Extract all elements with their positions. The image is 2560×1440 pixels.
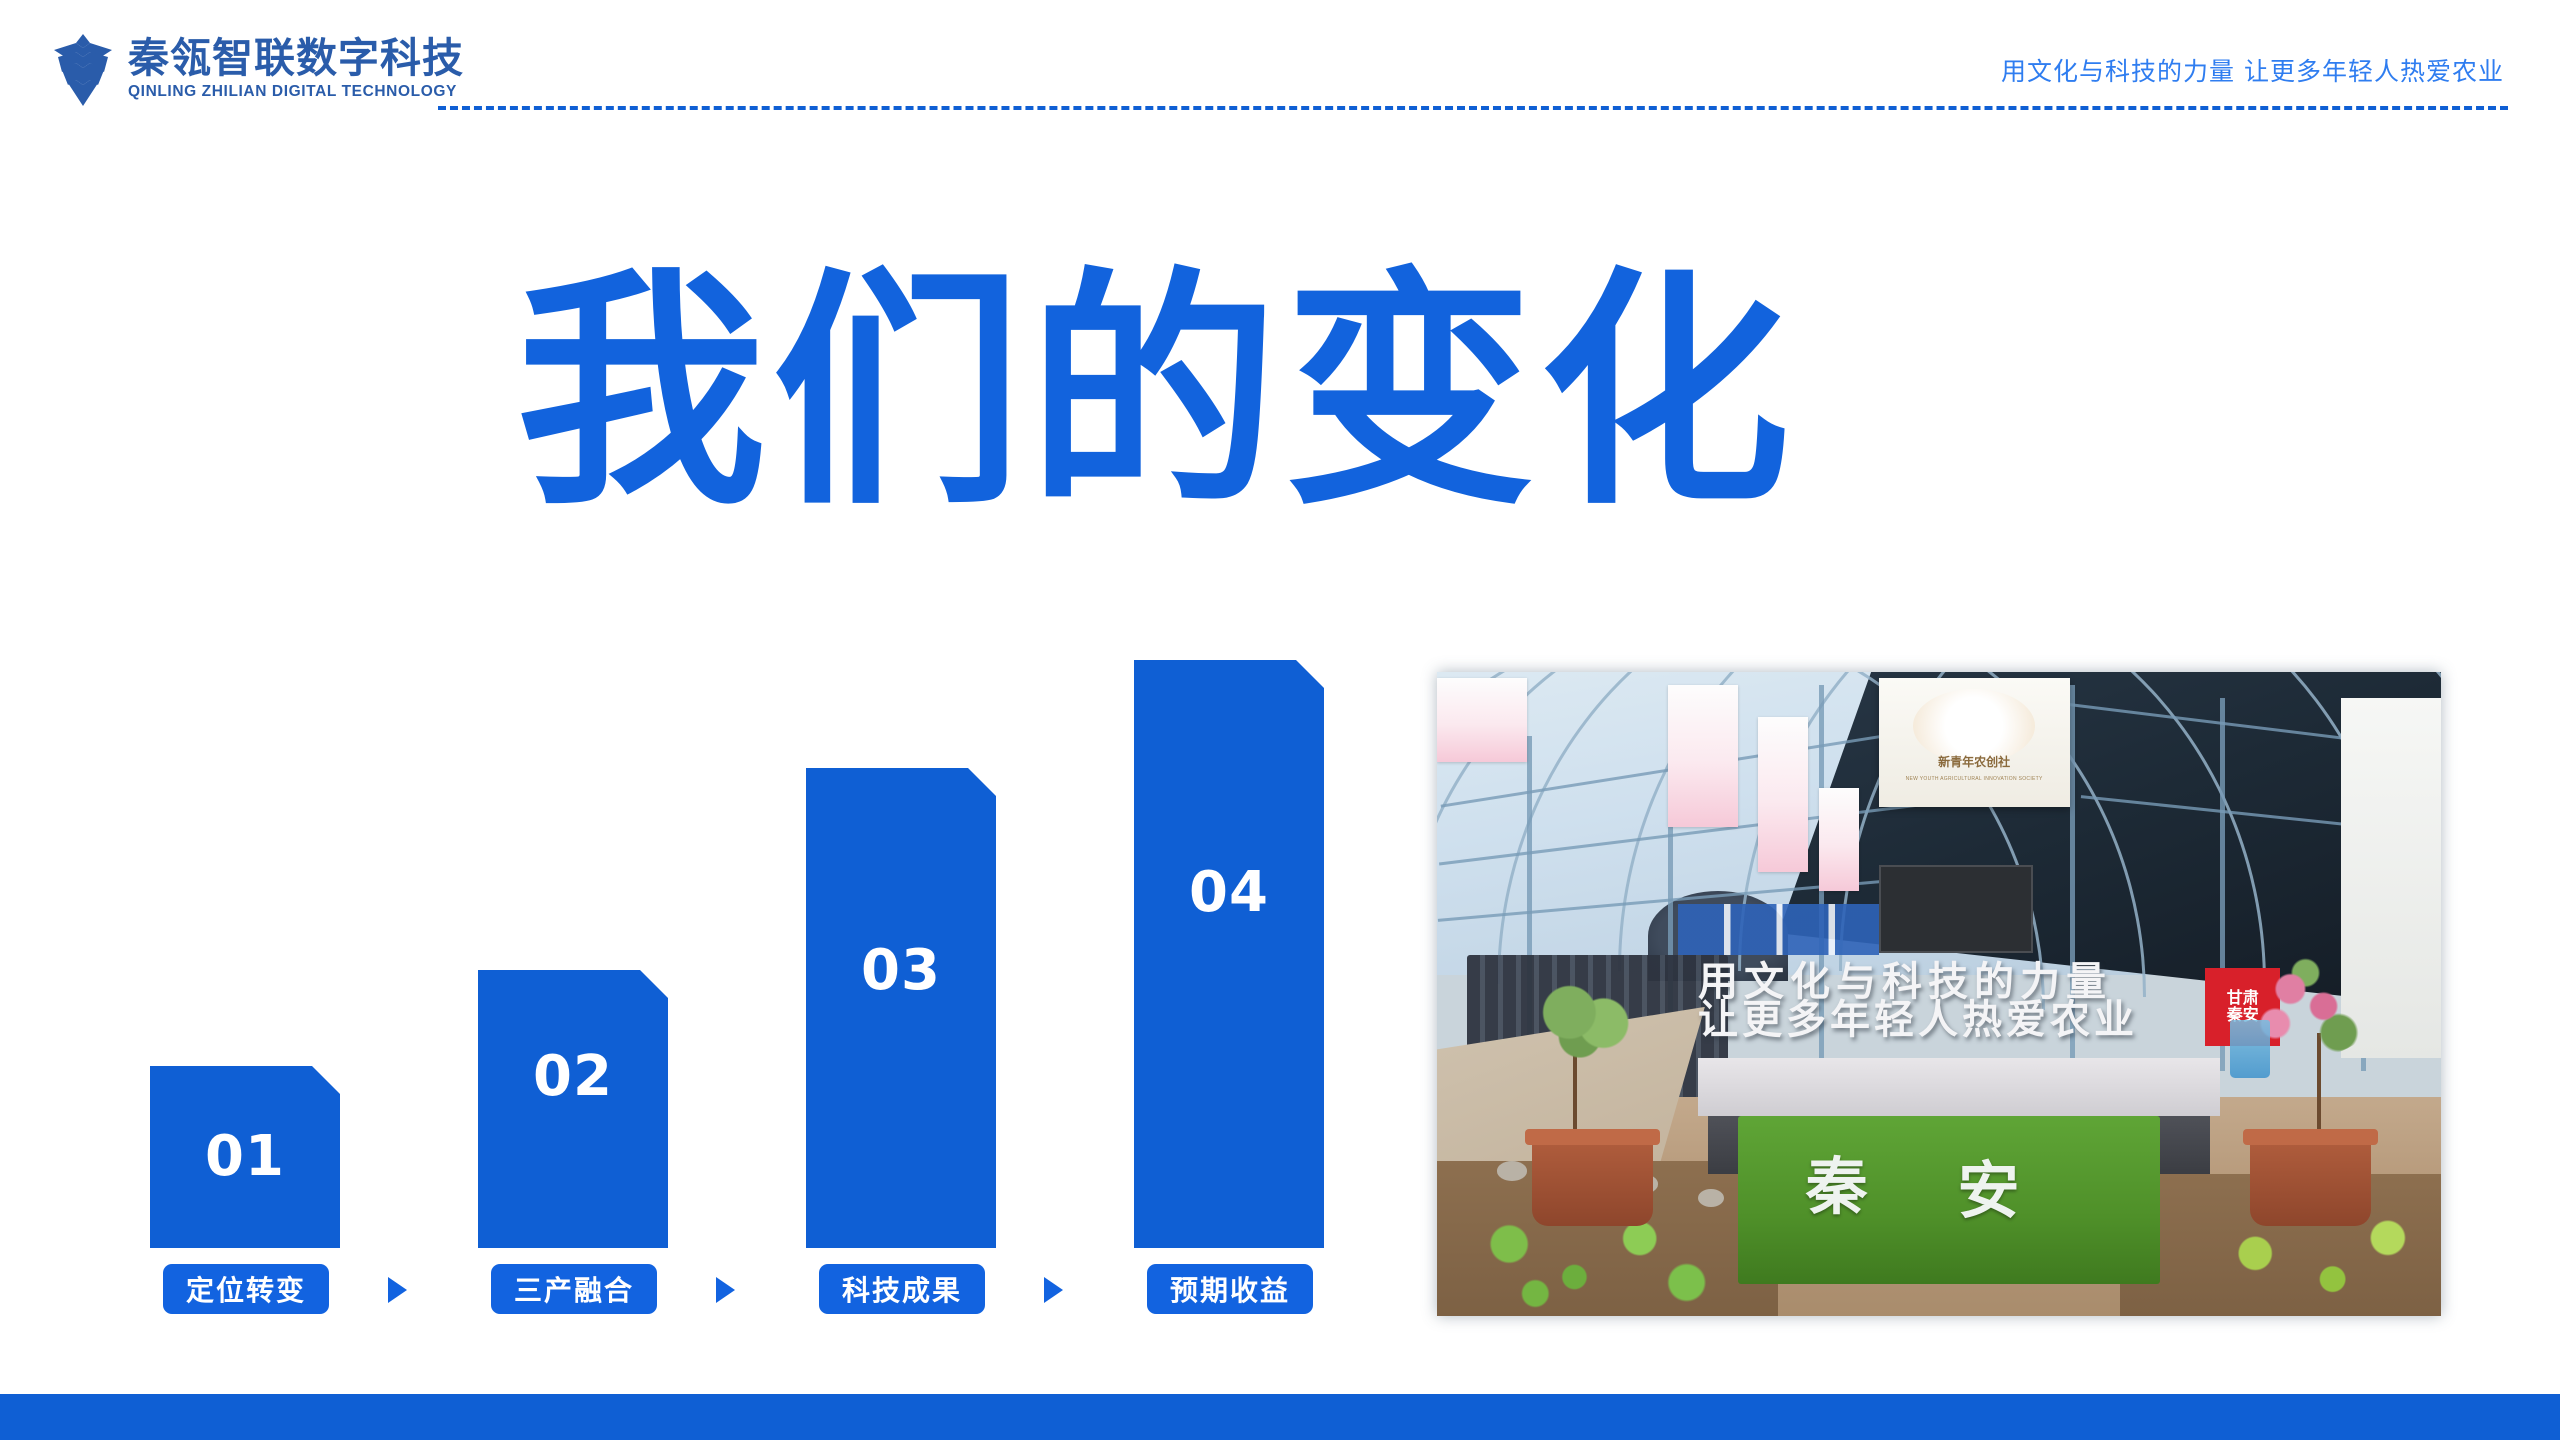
chart-arrow-3-play-triangle-right-icon xyxy=(1044,1277,1063,1303)
header-tagline: 用文化与科技的力量 让更多年轻人热爱农业 xyxy=(2001,52,2504,88)
chart-bar-1[interactable]: 01 xyxy=(150,1066,340,1248)
photo-grass-char-1: 秦 xyxy=(1806,1136,1868,1226)
chart-label-2[interactable]: 三产融合 xyxy=(491,1264,657,1314)
chart-bar-2[interactable]: 02 xyxy=(478,970,668,1248)
chart-arrow-2-play-triangle-right-icon xyxy=(716,1277,735,1303)
photo-banner-2 xyxy=(1668,685,1738,827)
photo-flower-pot-right xyxy=(2250,1129,2370,1226)
photo-banner-4 xyxy=(1819,788,1859,891)
chart-label-4[interactable]: 预期收益 xyxy=(1147,1264,1313,1314)
progress-bar-chart: 01 02 03 04 定位转变 三产融合 科技成果 预期收益 xyxy=(150,700,1410,1340)
photo-sign-text-block: 用文化与科技的力量 让更多年轻人热爱农业 xyxy=(1698,962,2240,1078)
chart-bar-number-3: 03 xyxy=(806,938,996,1003)
chart-bar-3[interactable]: 03 xyxy=(806,768,996,1248)
photo-display-screen xyxy=(1879,865,2034,953)
photo-hanging-sign-en: NEW YOUTH AGRICULTURAL INNOVATION SOCIET… xyxy=(1879,776,2070,782)
slide-root: 秦瓴智联数字科技 QINLING ZHILIAN DIGITAL TECHNOL… xyxy=(0,0,2560,1440)
chart-label-1[interactable]: 定位转变 xyxy=(163,1264,329,1314)
brand-logo[interactable]: 秦瓴智联数字科技 QINLING ZHILIAN DIGITAL TECHNOL… xyxy=(52,30,464,108)
mountain-diamond-logo-icon xyxy=(52,30,114,108)
chart-bar-4[interactable]: 04 xyxy=(1134,660,1324,1248)
footer-bar xyxy=(0,1394,2560,1440)
photo-hanging-sign-cn: 新青年农创社 xyxy=(1879,753,2070,770)
chart-arrow-1-play-triangle-right-icon xyxy=(388,1277,407,1303)
logo-wordmark: 秦瓴智联数字科技 QINLING ZHILIAN DIGITAL TECHNOL… xyxy=(128,38,464,100)
photo-flower-pot-left xyxy=(1532,1129,1652,1226)
photo-water-jug xyxy=(2230,1020,2270,1078)
logo-text-en: QINLING ZHILIAN DIGITAL TECHNOLOGY xyxy=(128,84,464,100)
photo-stone-4 xyxy=(1698,1189,1724,1207)
photo-sign-line-2: 让更多年轻人热爱农业 xyxy=(1698,1000,2240,1040)
photo-blue-display-boards xyxy=(1678,904,1879,956)
greenhouse-exhibition-photo[interactable]: 新青年农创社 NEW YOUTH AGRICULTURAL INNOVATION… xyxy=(1437,672,2441,1316)
page-title: 我们的变化 xyxy=(516,268,1796,518)
chart-category-labels: 定位转变 三产融合 科技成果 预期收益 xyxy=(150,1260,1410,1314)
photo-hanging-sign: 新青年农创社 NEW YOUTH AGRICULTURAL INNOVATION… xyxy=(1879,678,2070,807)
chart-bar-number-1: 01 xyxy=(150,1124,340,1189)
photo-banner-1 xyxy=(1437,678,1527,762)
chart-bars: 01 02 03 04 xyxy=(150,700,1410,1248)
slide-header: 秦瓴智联数字科技 QINLING ZHILIAN DIGITAL TECHNOL… xyxy=(0,0,2560,120)
photo-sign-line-1: 用文化与科技的力量 xyxy=(1698,962,2240,1002)
photo-pot-tree-left-canopy xyxy=(1517,975,1648,1059)
logo-text-cn: 秦瓴智联数字科技 xyxy=(128,38,464,79)
header-dashed-divider xyxy=(438,106,2508,110)
chart-bar-number-4: 04 xyxy=(1134,860,1324,925)
photo-banner-3 xyxy=(1758,717,1808,872)
chart-bar-number-2: 02 xyxy=(478,1044,668,1109)
chart-label-3[interactable]: 科技成果 xyxy=(819,1264,985,1314)
photo-grass-char-2: 安 xyxy=(1957,1140,2019,1230)
photo-stone-1 xyxy=(1497,1161,1527,1180)
photo-grass-logo-bed: 秦 安 xyxy=(1738,1116,2160,1283)
